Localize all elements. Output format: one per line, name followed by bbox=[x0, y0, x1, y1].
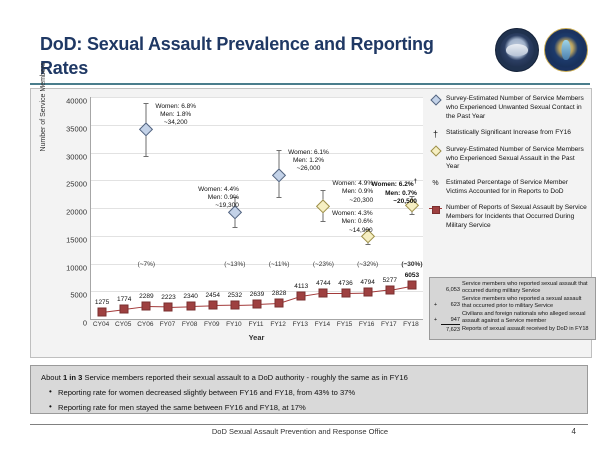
legend-item-label: Estimated Percentage of Service Member V… bbox=[446, 179, 587, 197]
callout-number: 623 bbox=[440, 296, 460, 309]
gridline bbox=[91, 97, 423, 98]
x-axis-tick-label: FY17 bbox=[381, 321, 397, 328]
survey-estimate-marker[interactable] bbox=[317, 200, 330, 213]
data-point-label: 2454 bbox=[205, 292, 219, 299]
chart-legend: Survey-Estimated Number of Service Membe… bbox=[429, 95, 587, 238]
y-axis-tick-label: 10000 bbox=[66, 263, 87, 272]
footer-text: DoD Sexual Assault Prevention and Respon… bbox=[0, 427, 600, 436]
error-bar-cap bbox=[232, 227, 237, 228]
callout-operator: + bbox=[433, 296, 438, 309]
y-axis-tick-label: 15000 bbox=[66, 235, 87, 244]
summary-lead: About 1 in 3 Service members reported th… bbox=[41, 373, 579, 382]
y-axis-tick-label: 40000 bbox=[66, 97, 87, 106]
percent-annotation: (~32%) bbox=[357, 261, 378, 268]
error-bar-cap bbox=[321, 221, 326, 222]
x-axis-ticks: CY04CY05CY06FY07FY08FY09FY10FY11FY12FY13… bbox=[90, 321, 423, 333]
x-axis-tick-label: FY15 bbox=[337, 321, 353, 328]
legend-item: †Statistically Significant Increase from… bbox=[429, 129, 587, 139]
callout-row: +947Civilians and foreign nationals who … bbox=[433, 311, 591, 325]
seal-group bbox=[495, 28, 588, 72]
summary-bullet: Reporting rate for women decreased sligh… bbox=[49, 388, 579, 397]
summary-lead-suffix: Service members reported their sexual as… bbox=[82, 373, 407, 382]
survey-estimate-annotation: Women: 6.1%Men: 1.2%~26,000 bbox=[288, 149, 329, 173]
data-point-marker[interactable] bbox=[297, 292, 306, 301]
data-point-label: 4736 bbox=[338, 280, 352, 287]
data-point-label: 6053 bbox=[405, 272, 419, 279]
data-point-marker[interactable] bbox=[385, 285, 394, 294]
x-axis-tick-label: FY14 bbox=[315, 321, 331, 328]
x-axis-tick-label: CY04 bbox=[93, 321, 109, 328]
dod-seal-icon bbox=[495, 28, 539, 72]
callout-text: Service members who reported a sexual as… bbox=[462, 296, 591, 310]
callout-row: 7,623Reports of sexual assault received … bbox=[433, 326, 591, 334]
data-point-label: 2340 bbox=[183, 293, 197, 300]
gridline bbox=[91, 208, 423, 209]
summary-lead-emphasis: 1 in 3 bbox=[63, 373, 82, 382]
x-axis-tick-label: FY08 bbox=[182, 321, 198, 328]
data-point-marker[interactable] bbox=[120, 305, 129, 314]
legend-item-label: Number of Reports of Sexual Assault by S… bbox=[446, 204, 587, 231]
callout-text: Civilians and foreign nationals who alle… bbox=[462, 311, 591, 325]
summary-box: About 1 in 3 Service members reported th… bbox=[30, 365, 588, 414]
callout-number: 947 bbox=[440, 311, 460, 324]
data-point-label: 2639 bbox=[250, 291, 264, 298]
y-axis-tick-label: 20000 bbox=[66, 208, 87, 217]
data-point-marker[interactable] bbox=[230, 300, 239, 309]
survey-estimate-annotation: Women: 4.9%Men: 0.9%~20,300 bbox=[332, 180, 373, 204]
title-divider bbox=[30, 83, 590, 85]
callout-number: 7,623 bbox=[440, 326, 460, 334]
x-axis-tick-label: CY05 bbox=[115, 321, 131, 328]
error-bar-cap bbox=[277, 197, 282, 198]
data-point-marker[interactable] bbox=[208, 301, 217, 310]
error-bar-cap bbox=[365, 244, 370, 245]
data-point-label: 2532 bbox=[228, 292, 242, 299]
data-point-marker[interactable] bbox=[253, 300, 262, 309]
legend-item: Number of Reports of Sexual Assault by S… bbox=[429, 204, 587, 231]
slide: DoD: Sexual Assault Prevalence and Repor… bbox=[0, 0, 600, 464]
data-point-label: 1774 bbox=[117, 296, 131, 303]
y-axis-tick-label: 25000 bbox=[66, 180, 87, 189]
callout-row: 6,053Service members who reported sexual… bbox=[433, 281, 591, 295]
summary-lead-prefix: About bbox=[41, 373, 63, 382]
data-point-label: 5277 bbox=[383, 277, 397, 284]
y-axis-title: Number of Service Members bbox=[40, 47, 47, 167]
data-point-marker[interactable] bbox=[164, 302, 173, 311]
percent-annotation: (~23%) bbox=[313, 261, 334, 268]
survey-estimate-annotation: Women: 4.3%Men: 0.6%~14,900 bbox=[332, 210, 373, 234]
error-bar-cap bbox=[144, 103, 149, 104]
reports-breakdown-callout: 6,053Service members who reported sexual… bbox=[429, 277, 596, 340]
data-point-marker[interactable] bbox=[275, 299, 284, 308]
error-bar-cap bbox=[144, 156, 149, 157]
summary-bullet: Reporting rate for men stayed the same b… bbox=[49, 403, 579, 412]
y-axis-tick-label: 5000 bbox=[70, 291, 87, 300]
legend-item-label: Survey-Estimated Number of Service Membe… bbox=[446, 95, 587, 122]
error-bar-cap bbox=[321, 190, 326, 191]
percent-annotation: (~11%) bbox=[269, 261, 290, 268]
x-axis-tick-label: FY09 bbox=[204, 321, 220, 328]
data-point-label: 1275 bbox=[95, 299, 109, 306]
legend-item-label: Statistically Significant Increase from … bbox=[446, 129, 571, 138]
x-axis-tick-label: FY16 bbox=[359, 321, 375, 328]
percent-annotation: (~13%) bbox=[224, 261, 245, 268]
callout-number: 6,053 bbox=[440, 281, 460, 294]
dagger-icon: † bbox=[433, 130, 438, 139]
data-point-label: 4744 bbox=[316, 280, 330, 287]
legend-item: %Estimated Percentage of Service Member … bbox=[429, 179, 587, 197]
survey-estimate-annotation: Women: 6.8%Men: 1.8%~34,200 bbox=[155, 103, 196, 127]
data-point-marker[interactable] bbox=[341, 288, 350, 297]
error-bar-cap bbox=[409, 214, 414, 215]
sapro-seal-icon bbox=[544, 28, 588, 72]
data-point-label: 4113 bbox=[294, 283, 308, 290]
data-point-marker[interactable] bbox=[319, 288, 328, 297]
legend-item-label: Survey-Estimated Number of Service Membe… bbox=[446, 146, 587, 173]
chart-container: Number of Service Members 05000100001500… bbox=[30, 88, 592, 358]
data-point-marker[interactable] bbox=[186, 302, 195, 311]
plot-area: (~7%)(~13%)(~11%)(~23%)(~32%)(~30%)12751… bbox=[90, 97, 423, 320]
percent-annotation: (~30%) bbox=[401, 261, 422, 268]
error-bar-cap bbox=[277, 150, 282, 151]
data-point-marker[interactable] bbox=[98, 307, 107, 316]
y-axis-ticks: 0500010000150002000025000300003500040000 bbox=[51, 97, 87, 319]
page-title: DoD: Sexual Assault Prevalence and Repor… bbox=[40, 33, 440, 81]
percent-icon: % bbox=[432, 180, 438, 187]
data-point-label: 2828 bbox=[272, 290, 286, 297]
data-point-marker[interactable] bbox=[363, 288, 372, 297]
data-point-label: 4794 bbox=[360, 279, 374, 286]
callout-operator bbox=[433, 281, 438, 287]
footer-divider bbox=[30, 424, 588, 425]
callout-text: Service members who reported sexual assa… bbox=[462, 281, 591, 295]
y-axis-tick-label: 0 bbox=[83, 319, 87, 328]
callout-operator bbox=[433, 326, 438, 332]
diamond-gold-icon bbox=[430, 145, 441, 156]
legend-item: Survey-Estimated Number of Service Membe… bbox=[429, 146, 587, 173]
x-axis-tick-label: CY06 bbox=[137, 321, 153, 328]
survey-estimate-annotation: Women: 4.4%Men: 0.9%~19,300 bbox=[198, 186, 239, 210]
percent-annotation: (~7%) bbox=[138, 261, 156, 268]
diamond-blue-icon bbox=[430, 94, 441, 105]
y-axis-tick-label: 35000 bbox=[66, 124, 87, 133]
legend-item: Survey-Estimated Number of Service Membe… bbox=[429, 95, 587, 122]
data-point-label: 2289 bbox=[139, 293, 153, 300]
survey-estimate-annotation: Women: 6.2%†Men: 0.7%~20,500 bbox=[371, 179, 416, 206]
data-point-marker[interactable] bbox=[142, 302, 151, 311]
line-marker-icon bbox=[429, 205, 442, 212]
data-point-marker[interactable] bbox=[407, 281, 416, 290]
x-axis-tick-label: FY11 bbox=[248, 321, 263, 328]
x-axis-tick-label: FY10 bbox=[226, 321, 242, 328]
x-axis-tick-label: FY13 bbox=[292, 321, 308, 328]
data-point-label: 2223 bbox=[161, 294, 175, 301]
callout-text: Reports of sexual assault received by Do… bbox=[462, 326, 591, 333]
x-axis-title: Year bbox=[90, 333, 423, 342]
callout-row: +623Service members who reported a sexua… bbox=[433, 296, 591, 310]
gridline bbox=[91, 153, 423, 154]
callout-operator: + bbox=[433, 311, 438, 324]
x-axis-tick-label: FY18 bbox=[403, 321, 419, 328]
x-axis-tick-label: FY12 bbox=[270, 321, 286, 328]
y-axis-tick-label: 30000 bbox=[66, 152, 87, 161]
page-number: 4 bbox=[572, 427, 576, 436]
x-axis-tick-label: FY07 bbox=[160, 321, 176, 328]
plot-area-wrapper: Number of Service Members 05000100001500… bbox=[41, 93, 423, 351]
